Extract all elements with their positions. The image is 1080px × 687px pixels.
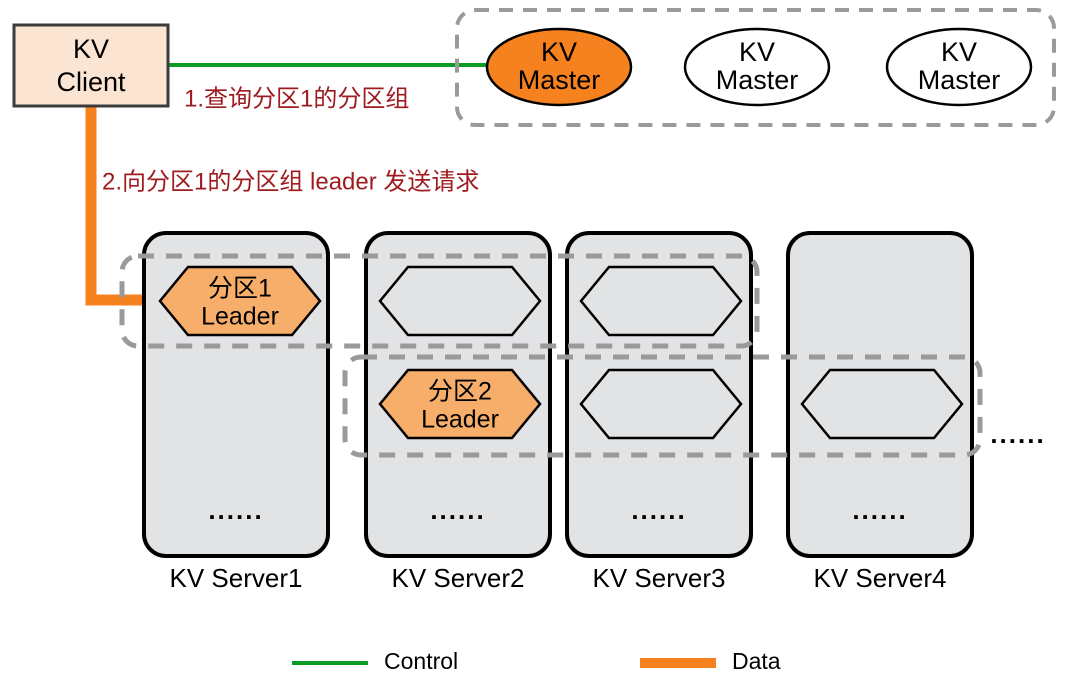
replica-server3-partition1-shape <box>581 267 741 335</box>
legend-control-label: Control <box>384 648 458 674</box>
kv-server-4-label: KV Server4 <box>814 563 947 593</box>
replica-server1-partition1-line2: Leader <box>201 303 279 331</box>
kv-architecture-diagram: KV Master KV Master KV Master KV Client … <box>0 0 1080 687</box>
step-1-label: 1.查询分区1的分区组 <box>184 85 409 112</box>
kv-master-2-line1: KV <box>739 37 775 67</box>
replica-server2-partition1[interactable] <box>380 267 540 335</box>
replica-server2-partition1-shape <box>380 267 540 335</box>
replica-server3-partition2-shape <box>581 370 741 438</box>
replica-server2-partition2-line1: 分区2 <box>428 378 492 406</box>
kv-client-line2: Client <box>56 67 126 97</box>
legend-control: Control <box>292 648 458 674</box>
kv-master-2-line2: Master <box>716 65 799 95</box>
diagram-canvas: KV Master KV Master KV Master KV Client … <box>0 0 1080 687</box>
replica-server3-partition2[interactable] <box>581 370 741 438</box>
overflow-ellipsis: ...... <box>990 419 1045 449</box>
kv-server-1-label: KV Server1 <box>170 563 303 593</box>
kv-master-2[interactable]: KV Master <box>685 29 829 105</box>
replica-server2-partition2-line2: Leader <box>421 406 499 434</box>
legend-data: Data <box>640 648 781 674</box>
replica-server4-partition2-shape <box>802 370 962 438</box>
kv-server-4-ellipsis: ...... <box>852 495 907 525</box>
replica-server4-partition2[interactable] <box>802 370 962 438</box>
kv-server-2-ellipsis: ...... <box>430 495 485 525</box>
kv-master-3-line1: KV <box>941 37 977 67</box>
kv-server-2-label: KV Server2 <box>392 563 525 593</box>
kv-master-1-line2: Master <box>518 65 601 95</box>
kv-server-3-label: KV Server3 <box>593 563 726 593</box>
kv-client-line1: KV <box>73 34 109 64</box>
kv-server-3-ellipsis: ...... <box>631 495 686 525</box>
replica-server2-partition2[interactable]: 分区2 Leader <box>380 370 540 438</box>
kv-client[interactable]: KV Client <box>14 25 168 106</box>
kv-master-3[interactable]: KV Master <box>887 29 1031 105</box>
replica-server1-partition1-line1: 分区1 <box>208 275 272 303</box>
legend-data-label: Data <box>732 648 781 674</box>
replica-server3-partition1[interactable] <box>581 267 741 335</box>
kv-master-3-line2: Master <box>918 65 1001 95</box>
kv-server-1-ellipsis: ...... <box>208 495 263 525</box>
kv-master-1[interactable]: KV Master <box>487 29 631 105</box>
step-2-label: 2.向分区1的分区组 leader 发送请求 <box>102 168 479 195</box>
replica-server1-partition1[interactable]: 分区1 Leader <box>160 267 320 335</box>
kv-master-1-line1: KV <box>541 37 577 67</box>
